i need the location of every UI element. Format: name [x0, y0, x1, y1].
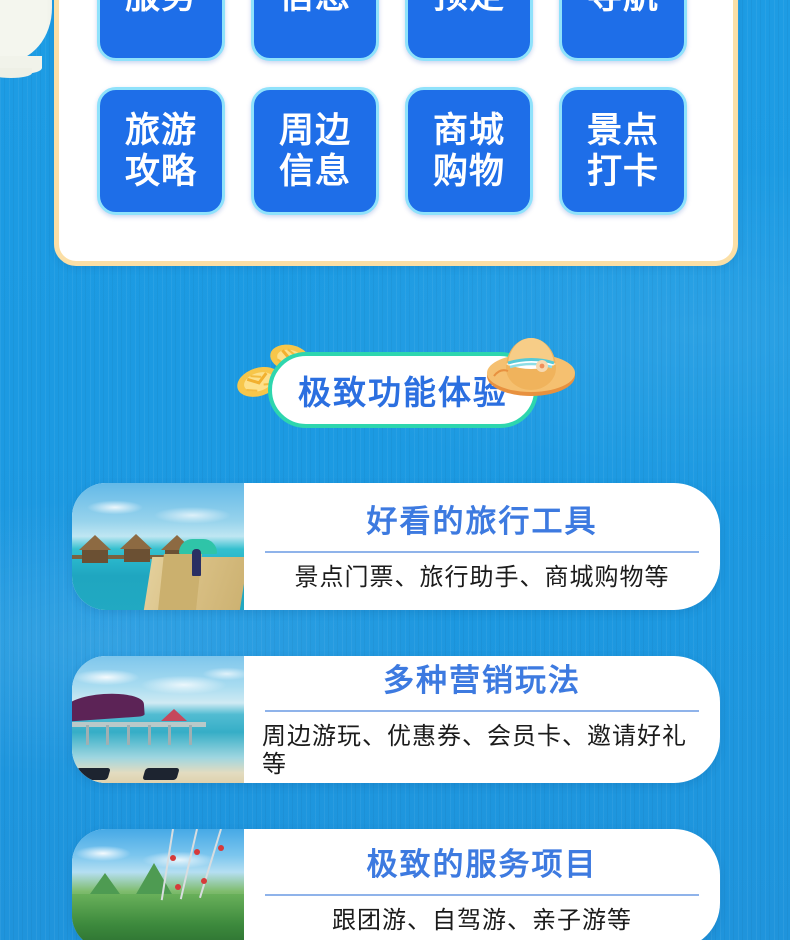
feature-subtitle: 周边游玩、优惠券、会员卡、邀请好礼等	[262, 723, 702, 778]
feature-thumbnail	[72, 483, 244, 610]
cloud-artifact	[0, 0, 58, 96]
feature-divider	[265, 551, 699, 553]
nav-button-line1: 景点	[587, 110, 659, 151]
feature-subtitle: 跟团游、自驾游、亲子游等	[332, 907, 632, 935]
feature-title: 好看的旅行工具	[367, 505, 598, 539]
nav-button-line2: 打卡	[587, 151, 659, 192]
feature-thumbnail	[72, 829, 244, 940]
nav-button-mall-shopping[interactable]: 商城 购物	[405, 87, 533, 215]
nav-button-line2: 信息	[279, 151, 351, 192]
feature-card[interactable]: 极致的服务项目 跟团游、自驾游、亲子游等	[72, 829, 720, 940]
nav-button-line2: 攻略	[125, 151, 197, 192]
feature-thumbnail	[72, 656, 244, 783]
feature-divider	[265, 710, 699, 712]
nav-button-line1: 商城	[433, 110, 505, 151]
feature-title: 多种营销玩法	[383, 664, 581, 698]
nav-button-line2: 购物	[433, 151, 505, 192]
nav-button-navigation[interactable]: 导航	[559, 0, 687, 61]
nav-button-line2: 导航	[587, 0, 659, 18]
nav-button-scenic-checkin[interactable]: 景点 打卡	[559, 87, 687, 215]
nav-card: 服务 信息 预定 导航 旅游 攻略 周边 信息	[54, 0, 738, 266]
nav-button-line2: 服务	[125, 0, 197, 18]
feature-title: 极致的服务项目	[367, 848, 598, 882]
nav-button-nearby-info[interactable]: 周边 信息	[251, 87, 379, 215]
nav-button-line2: 预定	[433, 0, 505, 18]
nav-grid: 服务 信息 预定 导航 旅游 攻略 周边 信息	[59, 0, 733, 215]
feature-body: 多种营销玩法 周边游玩、优惠券、会员卡、邀请好礼等	[244, 656, 720, 783]
nav-button-booking[interactable]: 预定	[405, 0, 533, 61]
straw-hat-icon	[486, 332, 576, 398]
nav-button-line1: 周边	[279, 110, 351, 151]
nav-button-travel-guide[interactable]: 旅游 攻略	[97, 87, 225, 215]
feature-divider	[265, 894, 699, 896]
nav-button-service[interactable]: 服务	[97, 0, 225, 61]
section-heading: 极致功能体验	[0, 330, 790, 440]
nav-row-1: 服务 信息 预定 导航	[97, 0, 695, 61]
feature-body: 好看的旅行工具 景点门票、旅行助手、商城购物等	[244, 483, 720, 610]
section-heading-text: 极致功能体验	[298, 366, 508, 414]
feature-body: 极致的服务项目 跟团游、自驾游、亲子游等	[244, 829, 720, 940]
nav-button-line1: 旅游	[125, 110, 197, 151]
feature-subtitle: 景点门票、旅行助手、商城购物等	[295, 564, 670, 592]
nav-button-information[interactable]: 信息	[251, 0, 379, 61]
nav-row-2: 旅游 攻略 周边 信息 商城 购物 景点 打卡	[97, 87, 695, 215]
nav-button-line2: 信息	[279, 0, 351, 18]
feature-card[interactable]: 多种营销玩法 周边游玩、优惠券、会员卡、邀请好礼等	[72, 656, 720, 783]
feature-card[interactable]: 好看的旅行工具 景点门票、旅行助手、商城购物等	[72, 483, 720, 610]
